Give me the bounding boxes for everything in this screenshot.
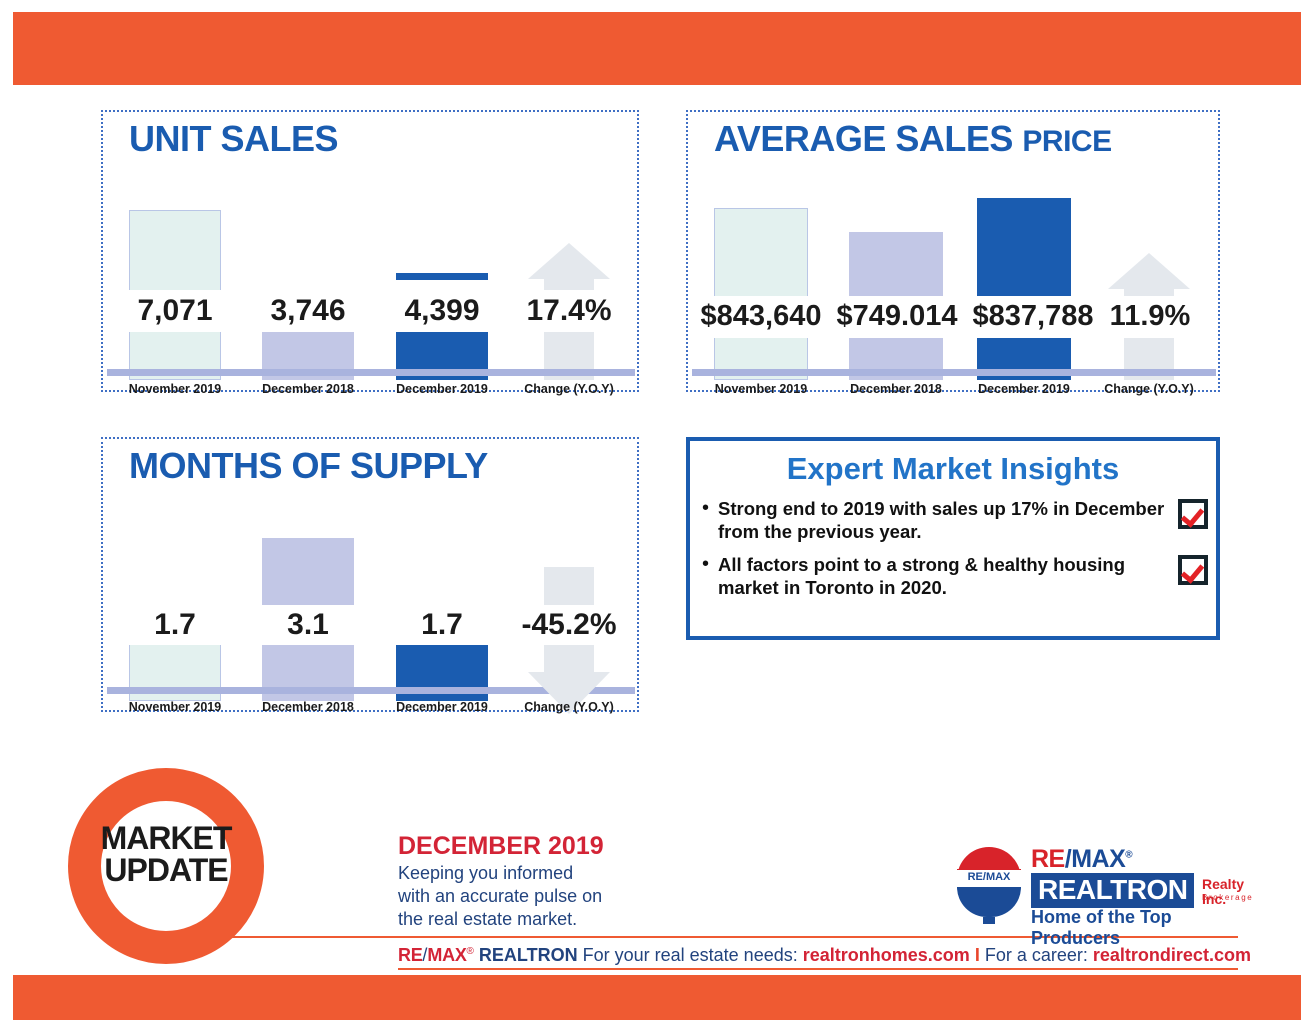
bar-december-2018-top xyxy=(262,538,354,606)
insight-text: All factors point to a strong & healthy … xyxy=(718,553,1178,599)
footer-divider-bottom xyxy=(398,968,1238,970)
bubble-line-1: MARKET xyxy=(68,822,264,854)
logo-remax-max: MAX xyxy=(1071,845,1125,873)
arrow-down-body-top xyxy=(544,567,594,609)
bar-december-2019-cap xyxy=(396,273,488,280)
checkbox-checked-icon[interactable] xyxy=(1178,555,1208,585)
logo-realty-inc: Realty Inc. xyxy=(1202,877,1244,907)
remax-balloon-icon: RE/MAX xyxy=(957,847,1021,925)
logo-remax-re: RE xyxy=(1031,845,1065,873)
bullet-icon: • xyxy=(702,497,718,519)
tagline-line-1: Keeping you informed xyxy=(398,862,602,885)
footer-orange-bar xyxy=(13,975,1301,1020)
bubble-text: MARKET UPDATE xyxy=(68,822,264,886)
value-change-yoy: 17.4% xyxy=(513,294,625,328)
panel-expert-market-insights: Expert Market Insights • Strong end to 2… xyxy=(686,437,1220,640)
value-change-yoy: 11.9% xyxy=(1094,300,1206,333)
panel-months-of-supply: MONTHS OF SUPPLY 1.7 3.1 1.7 -45.2% Nove… xyxy=(101,437,639,712)
value-december-2019: 4,399 xyxy=(386,294,498,328)
panel-title-average-sales-price: AVERAGE SALES PRICE xyxy=(714,118,1112,160)
panel-average-sales-price: AVERAGE SALES PRICE $843,640 $749.014 $8… xyxy=(686,110,1220,392)
tagline-line-2: with an accurate pulse on xyxy=(398,885,602,908)
insight-item: • All factors point to a strong & health… xyxy=(690,553,1216,599)
footer-brand-max: MAX xyxy=(427,945,466,965)
axis-label-change-yoy: Change (Y.O.Y) xyxy=(509,382,629,396)
axis-label-december-2019: December 2019 xyxy=(964,382,1084,396)
axis-label-change-yoy: Change (Y.O.Y) xyxy=(1089,382,1209,396)
panel-title-small: PRICE xyxy=(1022,125,1111,158)
footer-needs-text: For your real estate needs: xyxy=(583,945,798,965)
value-december-2018: 3,746 xyxy=(252,294,364,328)
value-change-yoy: -45.2% xyxy=(503,608,635,642)
value-december-2019: $837,788 xyxy=(960,300,1106,333)
balloon-basket xyxy=(983,917,995,924)
insight-item: • Strong end to 2019 with sales up 17% i… xyxy=(690,497,1216,543)
value-december-2019: 1.7 xyxy=(386,608,498,642)
panel-title-main: MONTHS OF SUPPLY xyxy=(129,445,488,486)
axis-label-november-2019: November 2019 xyxy=(115,700,235,714)
chart-baseline xyxy=(107,369,635,376)
panel-title-main: AVERAGE SALES xyxy=(714,118,1013,159)
value-december-2018: 3.1 xyxy=(252,608,364,642)
month-heading: DECEMBER 2019 xyxy=(398,832,604,861)
axis-label-december-2019: December 2019 xyxy=(382,382,502,396)
axis-label-november-2019: November 2019 xyxy=(115,382,235,396)
footer-needs-url[interactable]: realtronhomes.com xyxy=(803,945,970,965)
chart-baseline xyxy=(692,369,1216,376)
value-november-2019: $843,640 xyxy=(688,300,834,333)
footer-brand-realtron: REALTRON xyxy=(479,945,578,965)
value-november-2019: 7,071 xyxy=(119,294,231,328)
footer-separator: I xyxy=(975,945,980,965)
arrow-up-head xyxy=(1108,253,1190,289)
axis-label-november-2019: November 2019 xyxy=(701,382,821,396)
panel-unit-sales: UNIT SALES 7,071 3,746 4,399 17.4% Novem… xyxy=(101,110,639,392)
axis-label-december-2018: December 2018 xyxy=(248,700,368,714)
logo-brokerage: Brokerage xyxy=(1202,893,1253,902)
axis-label-change-yoy: Change (Y.O.Y) xyxy=(509,700,629,714)
balloon-label: RE/MAX xyxy=(957,871,1021,883)
axis-label-december-2018: December 2018 xyxy=(248,382,368,396)
logo-realtron-wordmark: REALTRON xyxy=(1038,874,1187,905)
tagline-line-3: the real estate market. xyxy=(398,908,602,931)
footer-brand-re: RE xyxy=(398,945,422,965)
insights-title: Expert Market Insights xyxy=(690,451,1216,487)
market-update-bubble-logo: MARKET UPDATE xyxy=(68,768,264,964)
balloon-bottom-stripe xyxy=(957,887,1021,917)
arrow-up-head xyxy=(528,243,610,279)
footer-brand-tm: ® xyxy=(467,946,474,957)
logo-tagline: Home of the Top Producers xyxy=(1031,907,1242,949)
bar-november-2019 xyxy=(714,208,808,380)
value-november-2019: 1.7 xyxy=(119,608,231,642)
logo-remax-tm: ® xyxy=(1125,850,1132,861)
panel-title-unit-sales: UNIT SALES xyxy=(129,118,338,160)
logo-remax-wordmark: RE/MAX® xyxy=(1031,845,1132,874)
header-orange-bar xyxy=(13,12,1301,85)
insight-text: Strong end to 2019 with sales up 17% in … xyxy=(718,497,1178,543)
checkbox-checked-icon[interactable] xyxy=(1178,499,1208,529)
bubble-line-2: UPDATE xyxy=(68,854,264,886)
panel-title-main: UNIT SALES xyxy=(129,118,338,159)
bar-december-2019 xyxy=(977,198,1071,380)
footer-tagline: Keeping you informed with an accurate pu… xyxy=(398,862,602,931)
panel-title-months-of-supply: MONTHS OF SUPPLY xyxy=(129,445,488,487)
remax-realtron-logo: RE/MAX RE/MAX® REALTRON Realty Inc. Brok… xyxy=(957,845,1242,937)
logo-realtron-box: REALTRON xyxy=(1031,873,1194,908)
axis-label-december-2018: December 2018 xyxy=(836,382,956,396)
bullet-icon: • xyxy=(702,553,718,575)
axis-label-december-2019: December 2019 xyxy=(382,700,502,714)
value-december-2018: $749.014 xyxy=(824,300,970,333)
